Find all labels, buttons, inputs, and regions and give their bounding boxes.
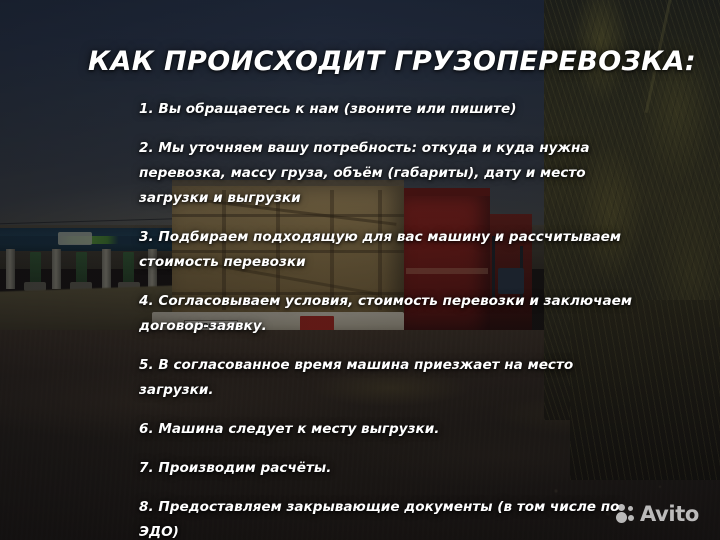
page-title: КАК ПРОИСХОДИТ ГРУЗОПЕРЕВОЗКА:	[88, 46, 696, 77]
list-item: 6. Машина следует к месту выгрузки.	[139, 417, 637, 442]
list-item: 4. Согласовываем условия, стоимость пере…	[139, 289, 637, 339]
avito-dots-icon	[616, 504, 636, 524]
list-item: 1. Вы обращаетесь к нам (звоните или пиш…	[139, 97, 637, 122]
list-item: 3. Подбираем подходящую для вас машину и…	[139, 225, 637, 275]
list-item: 5. В согласованное время машина приезжае…	[139, 353, 637, 403]
list-item: 7. Производим расчёты.	[139, 456, 637, 481]
avito-watermark: Avito	[616, 504, 699, 524]
text-overlay: КАК ПРОИСХОДИТ ГРУЗОПЕРЕВОЗКА: 1. Вы обр…	[0, 0, 720, 540]
list-item: 2. Мы уточняем вашу потребность: откуда …	[139, 136, 637, 211]
steps-list: 1. Вы обращаетесь к нам (звоните или пиш…	[139, 97, 637, 540]
avito-wordmark: Avito	[640, 504, 699, 524]
list-item: 8. Предоставляем закрывающие документы (…	[139, 495, 637, 540]
promo-image: KRONE КАК ПРОИСХОДИТ ГРУЗОПЕРЕВОЗКА: 1. …	[0, 0, 720, 540]
